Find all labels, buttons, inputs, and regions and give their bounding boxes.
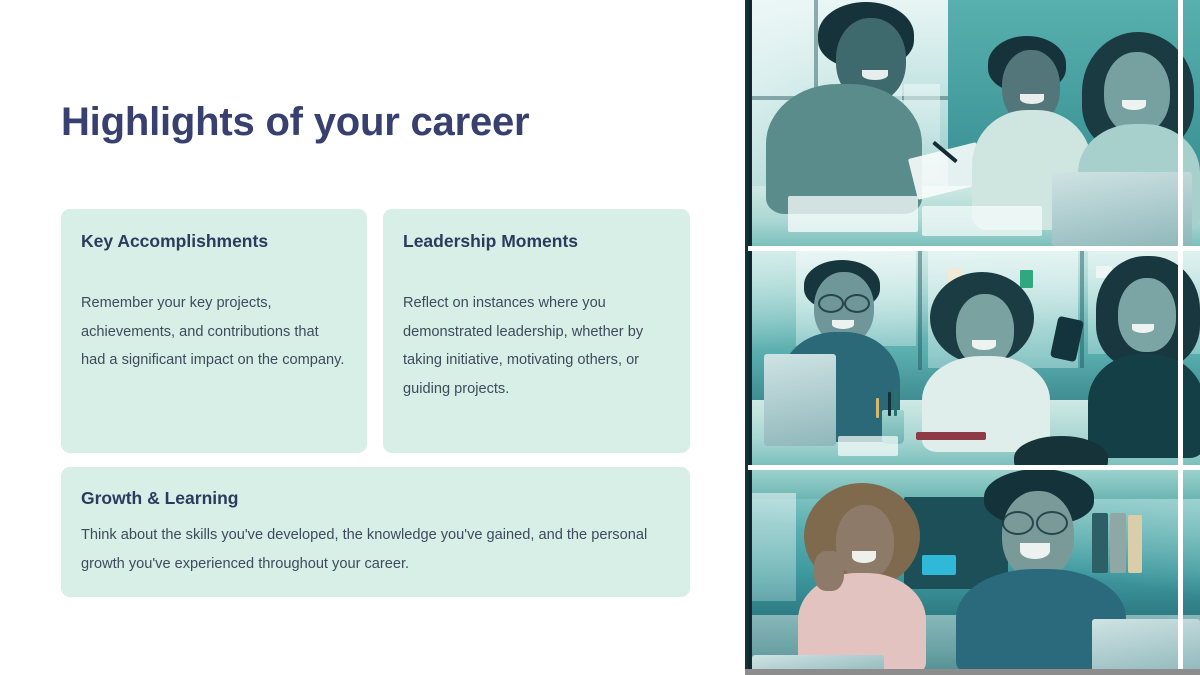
glasses-icon <box>844 294 870 313</box>
photo-gap <box>745 465 1200 470</box>
accent-line <box>1178 0 1183 675</box>
card-leadership-moments: Leadership Moments Reflect on instances … <box>383 209 690 453</box>
photo-scene <box>752 0 1200 246</box>
photo-team-reviewing-documents <box>752 0 1200 246</box>
photo-scene <box>752 469 1200 675</box>
content-column: Highlights of your career Key Accomplish… <box>0 0 745 675</box>
laptop <box>764 354 836 446</box>
glasses-icon <box>1036 511 1068 535</box>
slide-canvas: Highlights of your career Key Accomplish… <box>0 0 1200 675</box>
card-key-accomplishments: Key Accomplishments Remember your key pr… <box>61 209 367 453</box>
laptop <box>1092 619 1200 675</box>
bottom-bar <box>745 669 1200 675</box>
glasses-icon <box>818 294 844 313</box>
card-body: Reflect on instances where you demonstra… <box>403 289 668 403</box>
column-divider <box>745 0 748 675</box>
page-title: Highlights of your career <box>61 100 529 144</box>
photo-gap <box>745 246 1200 251</box>
card-body: Think about the skills you've developed,… <box>81 521 668 578</box>
card-heading: Leadership Moments <box>403 231 668 252</box>
photo-team-meeting-table <box>752 250 1200 465</box>
glasses-icon <box>1002 511 1034 535</box>
photo-two-colleagues-laughing <box>752 469 1200 675</box>
card-heading: Key Accomplishments <box>81 231 345 252</box>
photo-column <box>745 0 1200 675</box>
card-body: Remember your key projects, achievements… <box>81 289 345 375</box>
photo-scene <box>752 250 1200 465</box>
card-heading: Growth & Learning <box>81 488 668 509</box>
card-growth-and-learning: Growth & Learning Think about the skills… <box>61 467 690 597</box>
